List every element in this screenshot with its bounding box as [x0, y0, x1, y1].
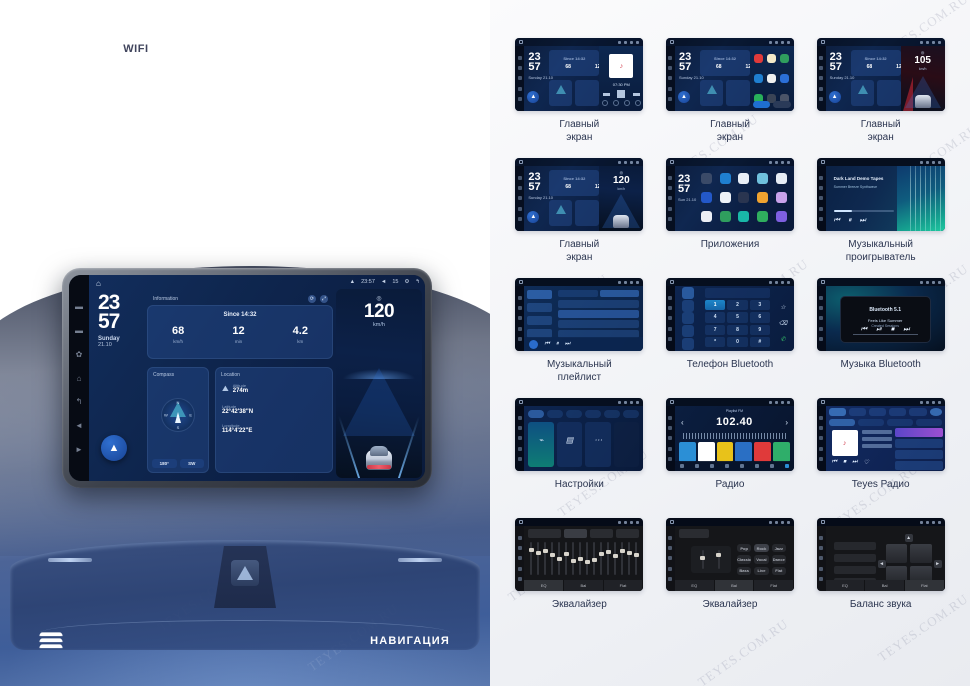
heart-icon: ♡	[863, 459, 868, 466]
station-meta	[862, 430, 892, 451]
gallery-item[interactable]: Bluetooth 5.1 Feels Like Summer Created …	[809, 278, 952, 398]
thumb-speed-value: 120	[599, 175, 643, 186]
home-icon[interactable]: ⌂	[75, 374, 84, 383]
clock-date: 21.10	[98, 342, 120, 348]
backspace-icon: ⌫	[779, 320, 787, 327]
stat-item: 4.2 km	[293, 326, 308, 344]
thumbnail-home-media[interactable]: 2357Sunday 21.10 Since 14:32 68124.2 ▲ ♪…	[515, 38, 643, 111]
thumb-side-buttons	[515, 46, 524, 111]
volume-down-icon[interactable]: ◄	[75, 421, 84, 430]
settings-tabs[interactable]	[528, 410, 639, 418]
latitude-value: 22°42'38"N	[222, 409, 328, 415]
thumbnail-teyes-radio[interactable]: ♪ ⏮⏹⏭♡	[817, 398, 945, 471]
gallery-item[interactable]: Dark Land Demo Tapes Summer Breeze Synth…	[809, 158, 952, 278]
information-since: Since 14:32	[148, 312, 332, 318]
star-icon: ☆	[780, 304, 785, 311]
thumbnail-caption: Настройки	[555, 479, 604, 492]
gallery-item[interactable]: EQBalFlat Эквалайзер	[508, 518, 651, 638]
compass-south: S	[177, 425, 180, 430]
waveform-visual	[897, 166, 945, 231]
location-longitude-row: Longitude 114°4'22"E	[222, 423, 328, 434]
status-bar: ▲ 23:57 ◄ 15 ⚙ ↰	[350, 279, 420, 285]
preset-sliders[interactable]	[691, 546, 731, 573]
stat-item: 68 km/h	[172, 326, 184, 344]
equalizer-tabs[interactable]: EQBalFlat	[524, 580, 643, 591]
stat-unit: min	[232, 339, 244, 344]
teyes-radio-view: ♪ ⏮⏹⏭♡	[826, 406, 945, 471]
call-icon: ✆	[780, 336, 785, 343]
location-altitude-row: ⛰ Altitude 274m	[222, 383, 328, 394]
gallery-item[interactable]: 123 456 789 *0# ☆⌫✆ Телефон Bluetooth	[659, 278, 802, 398]
thumbnail-home-speed[interactable]: 2357Sunday 21.10 Since 14:32 68124.2 ▲ ◎…	[515, 158, 643, 231]
gallery-item[interactable]: 2357Sunday 21.10 Since 14:32 68124.2 ▲ ◎…	[809, 38, 952, 158]
presentation-hero-panel: TEYES.COM.RU TEYES.COM.RU TEYES.COM.RU T…	[0, 0, 490, 686]
phone-actions[interactable]: ☆⌫✆	[774, 300, 792, 347]
gallery-item[interactable]: 2357Sunday 21.10 Since 14:32 68124.2 ▲ ◎…	[508, 158, 651, 278]
headline-line-1: Презентация	[40, 144, 386, 189]
speed-unit: km/h	[336, 322, 422, 328]
tuning-dial[interactable]	[683, 433, 786, 439]
previous-icon: ⏮	[861, 326, 867, 334]
dial-keypad[interactable]: 123 456 789 *0#	[705, 300, 770, 347]
clock-widget: 23 57 Sunday 21.10	[98, 293, 120, 348]
thumbnail-grid: 2357Sunday 21.10 Since 14:32 68124.2 ▲ ♪…	[490, 38, 970, 638]
layers-icon	[40, 631, 62, 651]
preset-buttons[interactable]: PopRockJazz ClassicVocalDance BassLiveFl…	[737, 544, 786, 575]
play-pause-icon: ⏯	[876, 326, 882, 334]
album-art: ♪	[609, 54, 633, 78]
stop-icon: ⏹	[891, 326, 895, 334]
track-artist: Summer Breeze Synthwave	[834, 185, 877, 189]
station-presets[interactable]	[679, 442, 790, 462]
gallery-item[interactable]: 2357Sunday 21.10 Since 14:32 68124.2 ▲ ♪…	[508, 38, 651, 158]
thumbnail-equalizer-presets[interactable]: PopRockJazz ClassicVocalDance BassLiveFl…	[666, 518, 794, 591]
radio-band-label: Playlist FM	[675, 409, 794, 413]
hazard-button-housing	[214, 546, 276, 608]
thumbnail-caption: Эквалайзер	[552, 599, 607, 612]
thumbnail-caption: Эквалайзер	[703, 599, 758, 612]
radio-view: Playlist FM ‹ 102.40 ›	[675, 406, 794, 471]
car-3d-model	[364, 446, 394, 472]
compass-title: Compass	[153, 372, 174, 378]
previous-icon: ⏮	[834, 217, 840, 225]
equalizer-view: EQBalFlat	[524, 526, 643, 591]
home-icon[interactable]: ⌂	[96, 279, 101, 288]
information-card[interactable]: Information ⟳ ⤢ Since 14:32 68 km/h 12	[147, 305, 333, 359]
wifi-icon: ▲	[350, 279, 355, 285]
gallery-item[interactable]: ⏮⏸⏭ Музыкальныйплейлист	[508, 278, 651, 398]
seek-bar[interactable]	[834, 210, 894, 212]
thumb-apps-pane	[750, 46, 794, 111]
phone-nav[interactable]	[675, 286, 701, 351]
expand-icon[interactable]: ⤢	[320, 295, 328, 303]
previous-icon: ⏮	[544, 341, 549, 348]
menu-icon[interactable]: ▬	[75, 326, 84, 335]
teyes-controls[interactable]: ⏮⏹⏭♡	[832, 459, 869, 466]
compass-north: N	[177, 400, 180, 405]
bt-music-view: Bluetooth 5.1 Feels Like Summer Created …	[826, 286, 945, 351]
thumbnail-caption: Главныйэкран	[559, 119, 599, 144]
next-icon: ⏭	[565, 341, 570, 348]
thumbnail-home-apps[interactable]: 2357Sunday 21.10 Since 14:32 68124.2 ▲	[666, 38, 794, 111]
information-stats: 68 km/h 12 min 4.2 km	[148, 326, 332, 344]
thumbnail-bt-phone[interactable]: 123 456 789 *0# ☆⌫✆	[666, 278, 794, 351]
head-unit-bezel: ▬ ▬ ✿ ⌂ ↰ ◄ ► ⌂ ▲ 23:57 ◄ 15 ⚙	[62, 268, 432, 488]
settings-icon[interactable]: ✿	[75, 350, 84, 359]
road-shape	[343, 368, 415, 436]
altitude-value: 274m	[233, 388, 248, 394]
player-controls[interactable]: ⏮⏸⏭	[834, 217, 866, 225]
stat-unit: km/h	[172, 339, 184, 344]
car-taillight	[367, 465, 391, 469]
settings-view: ⌁ ▤ ⋯	[524, 406, 643, 471]
speed-value: 120	[336, 302, 422, 321]
equalizer-header[interactable]	[528, 529, 639, 538]
stat-value: 4.2	[293, 326, 308, 337]
hazard-button[interactable]	[231, 560, 259, 586]
next-station-icon[interactable]: ›	[785, 418, 788, 427]
location-card[interactable]: Location ⛰ Altitude 274m Latitude 22°	[215, 367, 333, 473]
teyes-tabs[interactable]	[829, 408, 942, 416]
back-icon[interactable]: ↰	[75, 397, 84, 406]
thumbnail-music-player[interactable]: Dark Land Demo Tapes Summer Breeze Synth…	[817, 158, 945, 231]
stat-unit: km	[293, 339, 308, 344]
more-icon: ⋯	[594, 436, 602, 445]
thumbnail-playlist[interactable]: ⏮⏸⏭	[515, 278, 643, 351]
settings-cards[interactable]: ⌁ ▤ ⋯	[528, 422, 639, 467]
location-latitude-row: Latitude 22°42'38"N	[222, 404, 328, 415]
gear-icon[interactable]: ⚙	[404, 279, 409, 285]
gallery-item[interactable]: ▲ ▼ ◄ ► EQBalFlat Баланс звука	[809, 518, 952, 638]
vent-slot-right	[398, 558, 442, 562]
compass-direction: SW	[180, 459, 205, 468]
thumbnail-caption: Телефон Bluetooth	[687, 359, 774, 372]
brand-logo: CC3L WIFI	[44, 34, 156, 63]
back-arrow-icon[interactable]: ↰	[415, 279, 420, 285]
thumbnail-bt-music[interactable]: Bluetooth 5.1 Feels Like Summer Created …	[817, 278, 945, 351]
thumb-media-pane: ♪ 07:30 PM	[599, 46, 643, 111]
balance-right-icon[interactable]: ►	[934, 560, 942, 568]
balance-view: ▲ ▼ ◄ ► EQBalFlat	[826, 526, 945, 591]
volume-up-icon[interactable]: ►	[75, 445, 84, 454]
hero-footer: НАВИГАЦИЯ	[0, 626, 490, 656]
display-icon: ▤	[566, 436, 574, 445]
compass-east: E	[189, 413, 192, 418]
bluetooth-version-label: Bluetooth 5.1	[841, 307, 930, 313]
thumbnail-caption: Главныйэкран	[559, 239, 599, 264]
thumbnail-caption: Главныйэкран	[861, 119, 901, 144]
thumbnail-caption: Главныйэкран	[710, 119, 750, 144]
headline-year: 2024	[40, 84, 386, 144]
compass-dial: N E S W	[161, 398, 195, 432]
stat-value: 68	[172, 326, 184, 337]
thumbnail-apps[interactable]: 2357Sun 21.10	[666, 158, 794, 231]
power-icon[interactable]: ▬	[75, 302, 84, 311]
bt-phone-view: 123 456 789 *0# ☆⌫✆	[675, 286, 794, 351]
speed-panel[interactable]: ◎ 120 km/h	[336, 289, 422, 478]
thumbnail-settings[interactable]: ⌁ ▤ ⋯	[515, 398, 643, 471]
hazard-triangle-icon	[237, 566, 253, 580]
equalizer-tabs[interactable]: EQBalFlat	[675, 580, 794, 591]
head-unit-side-buttons[interactable]: ▬ ▬ ✿ ⌂ ↰ ◄ ►	[69, 275, 89, 481]
head-unit-screen[interactable]: ▬ ▬ ✿ ⌂ ↰ ◄ ► ⌂ ▲ 23:57 ◄ 15 ⚙	[69, 275, 425, 481]
app-grid[interactable]	[698, 170, 790, 225]
head-unit-content: ⌂ ▲ 23:57 ◄ 15 ⚙ ↰ 23 57 Sunday	[89, 275, 425, 481]
home-widgets: 23 57 Sunday 21.10 ▲ Information ⟳ ⤢ Sin…	[95, 291, 333, 475]
compass-card[interactable]: Compass N E S W 180° SW	[147, 367, 209, 473]
gallery-item[interactable]: PopRockJazz ClassicVocalDance BassLiveFl…	[659, 518, 802, 638]
gallery-item[interactable]: ♪ ⏮⏹⏭♡ Teyes Радио	[809, 398, 952, 518]
compass-needle	[175, 412, 181, 423]
clock-minutes: 57	[98, 312, 120, 331]
page-title: 2024 Презентация Нового Продукта!	[40, 84, 386, 233]
track-title: Feels Like Summer	[841, 318, 930, 323]
compass-heading: 180°	[152, 459, 177, 468]
longitude-value: 114°4'22"E	[222, 428, 328, 434]
car-roof	[370, 446, 388, 456]
playlist-player-bar[interactable]: ⏮⏸⏭	[524, 337, 643, 351]
vent-slot-left	[48, 558, 92, 562]
balance-pad[interactable]	[886, 544, 932, 584]
location-title: Location	[221, 372, 240, 378]
gallery-item[interactable]: ⌁ ▤ ⋯ Настройки	[508, 398, 651, 518]
next-icon: ⏭	[859, 217, 865, 225]
bt-music-card: Bluetooth 5.1 Feels Like Summer Created …	[840, 296, 931, 343]
music-player-view: Dark Land Demo Tapes Summer Breeze Synth…	[826, 166, 945, 231]
information-title: Information	[153, 296, 178, 302]
previous-icon: ⏮	[832, 459, 837, 466]
album-art: ♪	[832, 430, 858, 456]
refresh-icon[interactable]: ⟳	[308, 295, 316, 303]
seek-bar[interactable]	[853, 334, 918, 335]
navigation-arrow-icon[interactable]: ▲	[101, 435, 127, 461]
teyes-subtabs[interactable]	[829, 419, 942, 426]
wifi-badge: WIFI	[116, 41, 155, 57]
thumbnail-equalizer-bands[interactable]: EQBalFlat	[515, 518, 643, 591]
status-time: 23:57	[361, 279, 375, 285]
stop-icon: ⏹	[843, 459, 846, 466]
thumbnail-caption: Приложения	[701, 239, 760, 252]
mountain-icon: ⛰	[222, 384, 229, 394]
compass-west: W	[164, 413, 168, 418]
radio-frequency: 102.40	[675, 416, 794, 428]
bt-controls[interactable]: ⏮⏯⏹⏭	[841, 326, 930, 334]
thumb-speed-pane: ◎ 120 km/h	[599, 166, 643, 231]
next-icon: ⏭	[903, 326, 909, 334]
dial-display	[705, 288, 770, 298]
gallery-item[interactable]: 2357Sunday 21.10 Since 14:32 68124.2 ▲	[659, 38, 802, 158]
equalizer-sliders[interactable]	[530, 542, 637, 575]
headline-line-2: Нового Продукта!	[40, 189, 386, 234]
thumb-speed-pane: ◎ 105 km/h	[901, 46, 945, 111]
balance-left-icon[interactable]: ◄	[878, 560, 886, 568]
thumbnail-caption: Радио	[716, 479, 745, 492]
track-time: 07:30 PM	[599, 82, 643, 87]
balance-up-icon[interactable]: ▲	[905, 534, 913, 542]
equalizer-presets-view: PopRockJazz ClassicVocalDance BassLiveFl…	[675, 526, 794, 591]
thumbnail-radio[interactable]: Playlist FM ‹ 102.40 ›	[666, 398, 794, 471]
pause-icon: ⏸	[848, 217, 852, 225]
clock-day: Sunday	[98, 336, 120, 342]
thumbnail-balance[interactable]: ▲ ▼ ◄ ► EQBalFlat	[817, 518, 945, 591]
thumbnail-home-speed-red[interactable]: 2357Sunday 21.10 Since 14:32 68124.2 ▲ ◎…	[817, 38, 945, 111]
equalizer-tabs[interactable]: EQBalFlat	[826, 580, 945, 591]
volume-icon: ◄	[381, 279, 386, 285]
station-list[interactable]	[895, 428, 943, 471]
next-icon: ⏭	[852, 459, 857, 466]
compass-values: 180° SW	[152, 459, 204, 468]
radio-toolbar[interactable]	[675, 461, 794, 471]
thumbnail-caption: Музыкальныйпроигрыватель	[846, 239, 916, 264]
thumb-speed-value: 105	[901, 55, 945, 66]
car-dashboard-photo: ▬ ▬ ✿ ⌂ ↰ ◄ ► ⌂ ▲ 23:57 ◄ 15 ⚙	[0, 266, 490, 686]
thumb-status-bar	[515, 38, 643, 46]
pause-icon: ⏸	[556, 341, 559, 348]
playlist-view: ⏮⏸⏭	[524, 286, 643, 351]
wifi-icon: ⌁	[539, 436, 544, 445]
stat-item: 12 min	[232, 326, 244, 344]
volume-level: 15	[392, 279, 398, 285]
navigation-label: НАВИГАЦИЯ	[370, 635, 450, 647]
gallery-item[interactable]: Playlist FM ‹ 102.40 › Рад	[659, 398, 802, 518]
stat-value: 12	[232, 326, 244, 337]
thumbnail-caption: Музыкальныйплейлист	[547, 359, 612, 384]
thumbnail-caption: Баланс звука	[850, 599, 912, 612]
screenshot-gallery-panel: TEYES.COM.RU TEYES.COM.RU TEYES.COM.RU T…	[490, 0, 970, 686]
brand-model-label: CC3L	[44, 34, 107, 63]
thumbnail-caption: Teyes Радио	[852, 479, 910, 492]
track-title: Dark Land Demo Tapes	[834, 176, 884, 181]
thumbnail-caption: Музыка Bluetooth	[840, 359, 920, 372]
gallery-item[interactable]: 2357Sun 21.10	[659, 158, 802, 278]
